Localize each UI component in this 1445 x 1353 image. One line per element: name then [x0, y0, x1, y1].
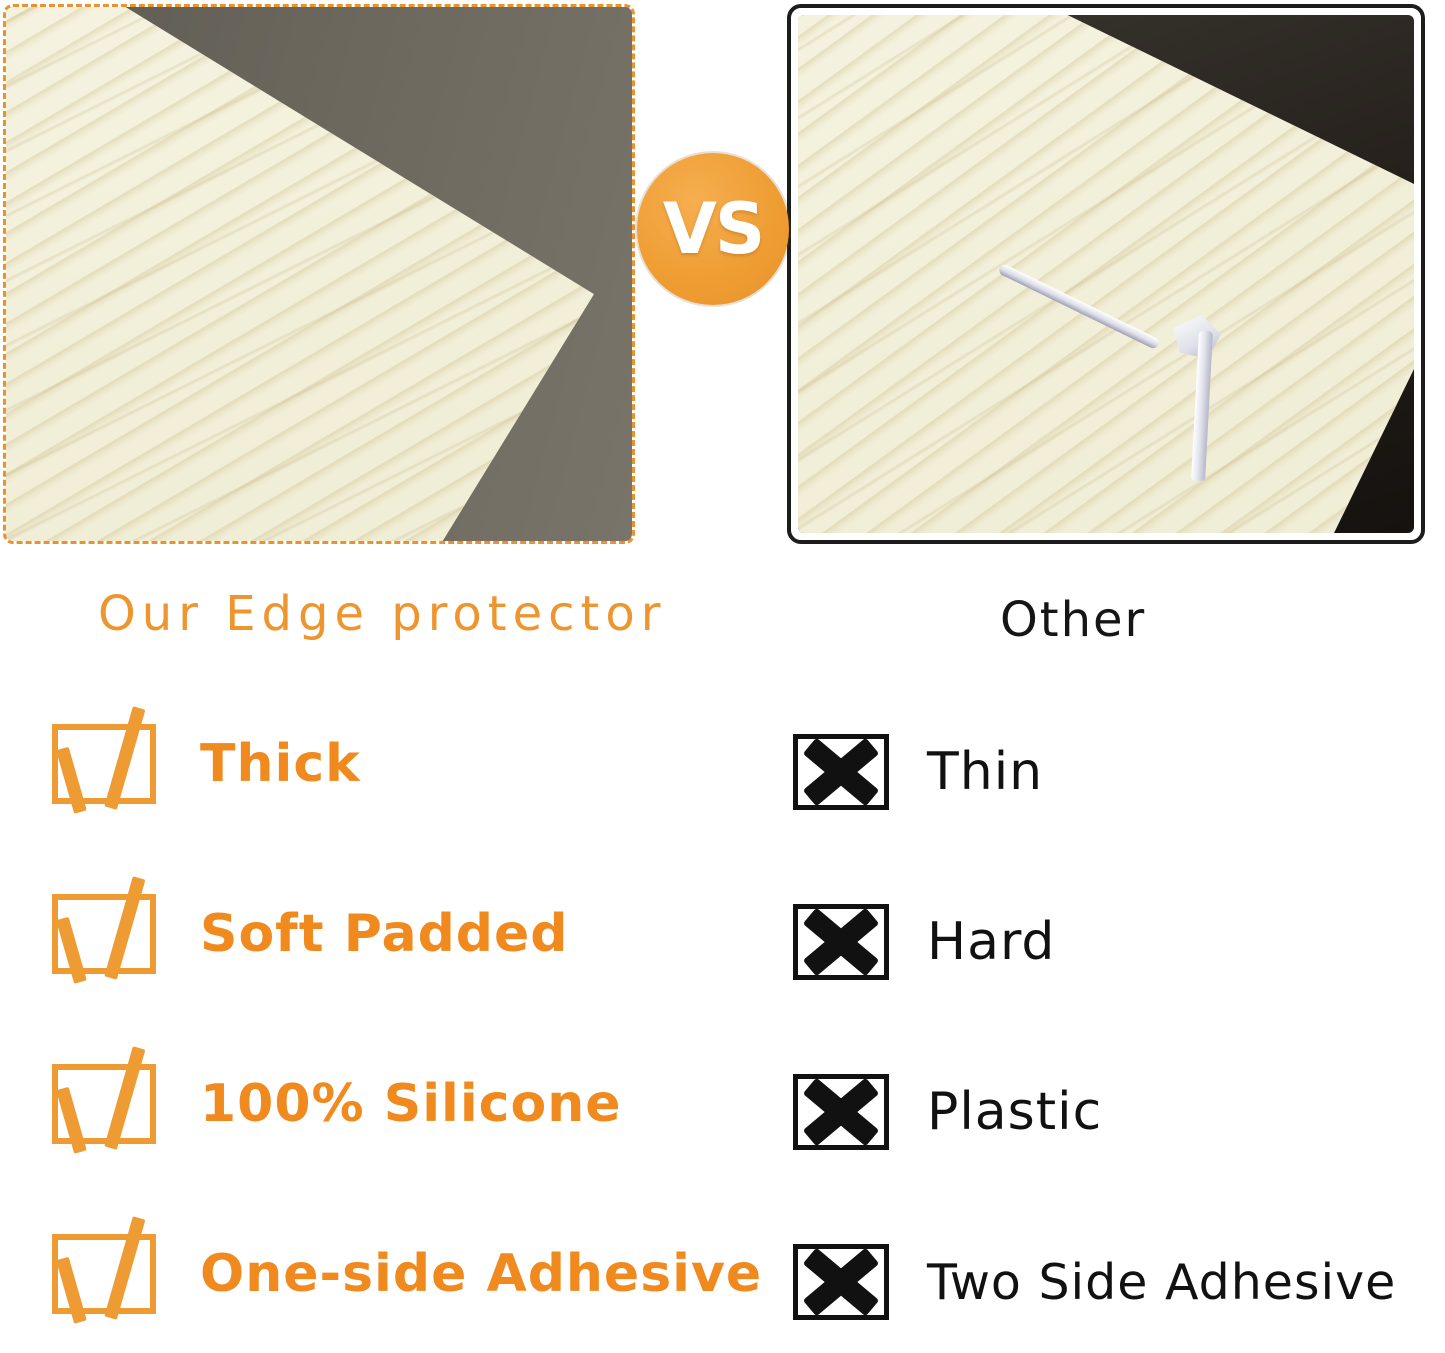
check-icon-stroke-short — [56, 1087, 87, 1154]
check-icon-stroke-long — [104, 706, 145, 810]
feature-label: 100% Silicone — [200, 1078, 622, 1130]
check-icon-stroke-long — [104, 876, 145, 980]
our-product-feature-list: Thick Soft Padded 100% Silicone One-side… — [52, 716, 752, 1322]
feature-label: Two Side Adhesive — [927, 1258, 1396, 1307]
check-icon — [52, 1234, 156, 1314]
check-icon-stroke-short — [56, 1257, 87, 1324]
check-icon — [52, 724, 156, 804]
check-icon-stroke-short — [56, 917, 87, 984]
other-product-photo — [798, 15, 1414, 533]
check-icon-stroke-long — [104, 1046, 145, 1150]
vs-badge-label: VS — [663, 194, 764, 264]
cross-icon — [793, 1244, 889, 1320]
other-product-photo-panel — [787, 4, 1425, 544]
feature-label: Thin — [927, 746, 1043, 798]
cross-icon — [793, 734, 889, 810]
feature-row: Plastic — [793, 1064, 1443, 1160]
feature-row: Thick — [52, 716, 752, 812]
cross-icon — [793, 1074, 889, 1150]
feature-row: Thin — [793, 724, 1443, 820]
vs-badge: VS — [637, 153, 789, 305]
our-product-photo — [6, 7, 632, 541]
feature-label: One-side Adhesive — [200, 1248, 762, 1300]
feature-label: Thick — [200, 738, 361, 790]
our-product-photo-panel — [3, 4, 635, 544]
check-icon — [52, 894, 156, 974]
feature-row: Two Side Adhesive — [793, 1234, 1443, 1330]
our-product-heading: Our Edge protector — [98, 586, 666, 642]
check-icon-stroke-short — [56, 747, 87, 814]
feature-label: Plastic — [927, 1086, 1102, 1138]
check-icon — [52, 1064, 156, 1144]
feature-row: One-side Adhesive — [52, 1226, 752, 1322]
feature-row: Hard — [793, 894, 1443, 990]
feature-label: Soft Padded — [200, 908, 569, 960]
feature-row: 100% Silicone — [52, 1056, 752, 1152]
other-product-feature-list: Thin Hard Plastic Two Side Adhesive — [793, 724, 1443, 1330]
feature-row: Soft Padded — [52, 886, 752, 982]
check-icon-stroke-long — [104, 1216, 145, 1320]
cross-icon — [793, 904, 889, 980]
other-product-heading: Other — [1000, 592, 1146, 648]
feature-label: Hard — [927, 916, 1055, 968]
